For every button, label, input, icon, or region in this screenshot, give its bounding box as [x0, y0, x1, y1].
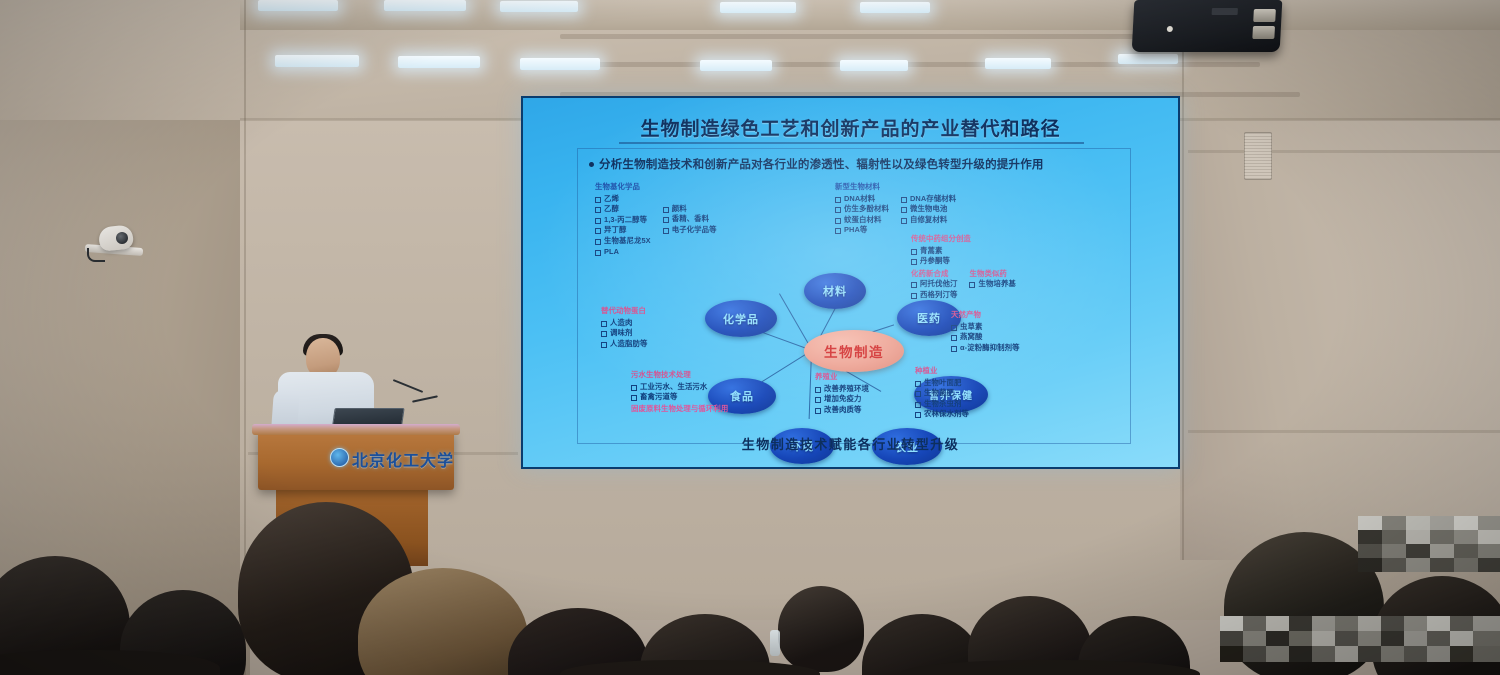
wall-trim: [1188, 150, 1500, 153]
checkbox-icon: [901, 197, 907, 203]
projector-lens-icon: [1253, 9, 1276, 22]
checkbox-icon: [951, 335, 957, 341]
list-item: 自修复材料: [901, 215, 956, 226]
checkbox-icon: [901, 218, 907, 224]
ceiling-light: [700, 60, 772, 71]
list-item: α-淀粉酶抑制剂等: [951, 343, 1020, 354]
checkbox-icon: [901, 207, 907, 213]
list-item: 丹参酮等: [911, 256, 1016, 267]
node-chemicals[interactable]: 化学品: [705, 300, 777, 337]
list-item: PLA: [595, 247, 651, 258]
list-item: 微生物电池: [901, 204, 956, 215]
ceiling-light: [384, 0, 466, 11]
cluster-subheading: 化药新合成: [911, 269, 957, 280]
cluster-nutrition: 天然产物 虫草素 燕窝酸 α-淀粉酶抑制剂等: [951, 310, 1020, 353]
cluster-column: 虫草素 燕窝酸 α-淀粉酶抑制剂等: [951, 322, 1020, 354]
cluster-heading: 新型生物材料: [835, 182, 956, 193]
hub-bio-manufacturing[interactable]: 生物制造: [804, 330, 904, 372]
list-item: 生物基尼龙5X: [595, 236, 651, 247]
checkbox-icon: [601, 331, 607, 337]
university-seal-icon: [330, 448, 349, 467]
list-item: 生物培养基: [969, 279, 1015, 290]
cluster-column: DNA材料 仿生多酚材料 蚊蛋白材料 PHA等: [835, 194, 889, 236]
wall-corner-seam: [1182, 0, 1184, 560]
title-divider: [619, 142, 1084, 144]
checkbox-icon: [595, 250, 601, 256]
cluster-column: 颜料 香精、香料 电子化学品等: [663, 204, 717, 258]
node-label: 医药: [917, 310, 941, 326]
list-item: 人造脂肪等: [601, 339, 647, 350]
privacy-mosaic: [1220, 616, 1500, 662]
cluster-heading: 替代动物蛋白: [601, 306, 647, 317]
cluster-heading: 种植业: [915, 366, 969, 377]
presentation-slide: 生物制造绿色工艺和创新产品的产业替代和路径 分析生物制造技术和创新产品对各行业的…: [523, 98, 1178, 467]
ceiling-light: [275, 55, 359, 67]
list-item: 仿生多酚材料: [835, 204, 889, 215]
checkbox-icon: [915, 412, 921, 418]
cluster-heading: 天然产物: [951, 310, 1020, 321]
node-label: 化学品: [723, 311, 759, 327]
cluster-environment: 污水生物技术处理 工业污水、生活污水 畜禽污道等 固废原料生物处理与循环利用: [631, 370, 728, 414]
cluster-note: 固废原料生物处理与循环利用: [631, 404, 728, 415]
privacy-mosaic: [1358, 516, 1500, 572]
list-item: 异丁醇: [595, 225, 651, 236]
checkbox-icon: [911, 293, 917, 299]
cluster-protein: 替代动物蛋白 人造肉 调味剂 人造脂肪等: [601, 306, 647, 349]
ceiling-light: [398, 56, 480, 68]
cluster-column: 改善养殖环境 增加免疫力 改善肉质等: [815, 384, 869, 416]
ceiling-band: [560, 34, 1220, 39]
checkbox-icon: [815, 397, 821, 403]
wall-trim: [1188, 430, 1500, 433]
list-item: 畜禽污道等: [631, 392, 728, 403]
checkbox-icon: [631, 395, 637, 401]
list-item: DNA材料: [835, 194, 889, 205]
cluster-chemicals: 生物基化学品 乙烯 乙醇 1,3-丙二醇等 异丁醇 生物基尼龙5X PLA 颜料…: [595, 182, 717, 257]
cluster-subheading: 生物类似药: [969, 269, 1015, 280]
wall-ptz-camera: [85, 226, 143, 256]
checkbox-icon: [595, 218, 601, 224]
ceiling-light: [840, 60, 908, 71]
checkbox-icon: [915, 402, 921, 408]
list-item: 燕窝酸: [951, 332, 1020, 343]
list-item: 生物叶面肥: [915, 378, 969, 389]
checkbox-icon: [951, 325, 957, 331]
cluster-column: 化药新合成 阿托伐他汀 西格列汀等: [911, 269, 957, 301]
list-item: 蚊蛋白材料: [835, 215, 889, 226]
list-item: 改善肉质等: [815, 405, 869, 416]
checkbox-icon: [915, 391, 921, 397]
camera-cable: [87, 248, 105, 262]
cluster-column: 乙烯 乙醇 1,3-丙二醇等 异丁醇 生物基尼龙5X PLA: [595, 194, 651, 258]
checkbox-icon: [595, 239, 601, 245]
cluster-medicine: 传统中药组分创造 青蒿素 丹参酮等 化药新合成 阿托伐他汀 西格列汀等 生物类似…: [911, 234, 1016, 301]
ceiling-light: [1118, 54, 1178, 64]
cluster-breeding: 养殖业 改善养殖环境 增加免疫力 改善肉质等: [815, 372, 869, 415]
hub-label: 生物制造: [824, 341, 884, 361]
audience-head: [778, 586, 864, 672]
water-bottle: [770, 630, 780, 656]
checkbox-icon: [595, 228, 601, 234]
ceiling-light: [985, 58, 1051, 69]
node-label: 食品: [730, 388, 754, 404]
list-item: 调味剂: [601, 328, 647, 339]
checkbox-icon: [835, 218, 841, 224]
checkbox-icon: [601, 342, 607, 348]
cluster-column: 人造肉 调味剂 人造脂肪等: [601, 318, 647, 350]
cluster-column: 工业污水、生活污水 畜禽污道等: [631, 382, 728, 403]
lecture-hall-photo: 生物制造绿色工艺和创新产品的产业替代和路径 分析生物制造技术和创新产品对各行业的…: [0, 0, 1500, 675]
list-item: 青蒿素: [911, 246, 1016, 257]
projector-lens-icon: [1252, 26, 1275, 39]
checkbox-icon: [631, 385, 637, 391]
checkbox-icon: [595, 207, 601, 213]
checkbox-icon: [835, 207, 841, 213]
checkbox-icon: [835, 228, 841, 234]
cluster-column: 生物叶面肥 生物菌肥 生物杀虫剂 农林保水剂等: [915, 378, 969, 420]
checkbox-icon: [815, 387, 821, 393]
node-label: 材料: [823, 283, 847, 299]
projector-vent: [1212, 8, 1238, 15]
cluster-heading: 生物基化学品: [595, 182, 717, 193]
list-item: 生物菌肥: [915, 388, 969, 399]
cluster-materials: 新型生物材料 DNA材料 仿生多酚材料 蚊蛋白材料 PHA等 DNA存储材料 微…: [835, 182, 956, 236]
slide-title: 生物制造绿色工艺和创新产品的产业替代和路径: [523, 114, 1178, 141]
list-item: 电子化学品等: [663, 225, 717, 236]
projection-screen: 生物制造绿色工艺和创新产品的产业替代和路径 分析生物制造技术和创新产品对各行业的…: [521, 96, 1180, 469]
list-item: 生物杀虫剂: [915, 399, 969, 410]
list-item: 颜料: [663, 204, 717, 215]
slide-caption: 生物制造技术赋能各行业转型升级: [523, 434, 1178, 453]
cluster-column: 青蒿素 丹参酮等: [911, 246, 1016, 267]
ceiling-light: [258, 0, 338, 11]
list-item: 人造肉: [601, 318, 647, 329]
cluster-heading: 养殖业: [815, 372, 869, 383]
camera-lens-icon: [116, 232, 128, 244]
checkbox-icon: [911, 249, 917, 255]
checkbox-icon: [835, 197, 841, 203]
checkbox-icon: [911, 282, 917, 288]
checkbox-icon: [663, 207, 669, 213]
checkbox-icon: [969, 282, 975, 288]
cluster-heading: 污水生物技术处理: [631, 370, 728, 381]
wall-speaker: [1244, 132, 1272, 180]
cluster-heading: 传统中药组分创造: [911, 234, 1016, 245]
ceiling-projector: [1132, 0, 1283, 52]
list-item: 1,3-丙二醇等: [595, 215, 651, 226]
checkbox-icon: [951, 346, 957, 352]
list-item: 增加免疫力: [815, 394, 869, 405]
checkbox-icon: [815, 408, 821, 414]
cluster-planting: 种植业 生物叶面肥 生物菌肥 生物杀虫剂 农林保水剂等: [915, 366, 969, 420]
ceiling-light: [860, 2, 930, 13]
projector-led-icon: [1167, 26, 1173, 32]
list-item: PHA等: [835, 225, 889, 236]
checkbox-icon: [911, 259, 917, 265]
list-item: 乙醇: [595, 204, 651, 215]
checkbox-icon: [601, 321, 607, 327]
checkbox-icon: [663, 228, 669, 234]
checkbox-icon: [663, 217, 669, 223]
ceiling-light: [500, 1, 578, 12]
list-item: 阿托伐他汀: [911, 279, 957, 290]
list-item: 乙烯: [595, 194, 651, 205]
list-item: DNA存储材料: [901, 194, 956, 205]
node-materials[interactable]: 材料: [804, 273, 866, 309]
list-item: 西格列汀等: [911, 290, 957, 301]
list-item: 香精、香料: [663, 214, 717, 225]
checkbox-icon: [915, 381, 921, 387]
podium-surface: [252, 424, 460, 435]
list-item: 工业污水、生活污水: [631, 382, 728, 393]
ceiling-light: [520, 58, 600, 70]
podium-institution-label: 北京化工大学: [352, 447, 454, 471]
checkbox-icon: [595, 197, 601, 203]
ceiling-light: [720, 2, 796, 13]
cluster-column: 生物类似药 生物培养基: [969, 269, 1015, 301]
list-item: 改善养殖环境: [815, 384, 869, 395]
cluster-column: DNA存储材料 微生物电池 自修复材料: [901, 194, 956, 236]
list-item: 虫草素: [951, 322, 1020, 333]
list-item: 农林保水剂等: [915, 409, 969, 420]
